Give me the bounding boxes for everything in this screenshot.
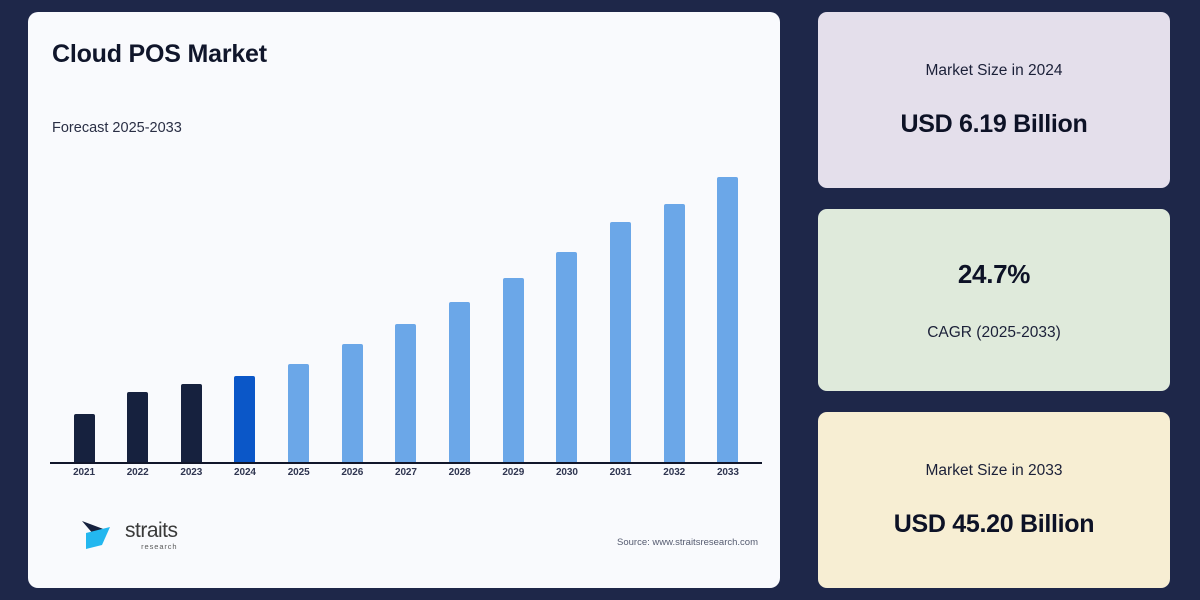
- bar-slot: [112, 154, 164, 464]
- bar-slot: [702, 154, 754, 464]
- x-axis-label-2030: 2030: [541, 467, 593, 478]
- bar-slot: [487, 154, 539, 464]
- bar-slot: [219, 154, 271, 464]
- stat-card-list: Market Size in 2024 USD 6.19 Billion 24.…: [818, 12, 1170, 588]
- x-axis-label-2029: 2029: [487, 467, 539, 478]
- bar-chart-plot: 2021202220232024202520262027202820292030…: [50, 152, 762, 464]
- stat-card-market-size-2033: Market Size in 2033 USD 45.20 Billion: [818, 412, 1170, 588]
- bar-slot: [595, 154, 647, 464]
- bar-2027: [395, 324, 416, 464]
- bar-2028: [449, 302, 470, 464]
- logo-arrow-icon: [80, 517, 118, 553]
- x-axis-label-2031: 2031: [595, 467, 647, 478]
- bar-2025: [288, 364, 309, 464]
- stat-card-value: 24.7%: [958, 259, 1030, 290]
- x-axis-label-2033: 2033: [702, 467, 754, 478]
- straits-research-logo: straits research: [80, 517, 178, 553]
- bar-slot: [648, 154, 700, 464]
- bar-slot: [434, 154, 486, 464]
- bar-slot: [165, 154, 217, 464]
- bar-slot: [326, 154, 378, 464]
- bar-2032: [664, 204, 685, 464]
- bar-2033: [717, 177, 738, 464]
- stat-card-cagr: 24.7% CAGR (2025-2033): [818, 209, 1170, 391]
- logo-main-text: straits: [125, 520, 178, 541]
- x-axis-label-2028: 2028: [434, 467, 486, 478]
- x-axis-label-2026: 2026: [326, 467, 378, 478]
- bar-2026: [342, 344, 363, 464]
- x-axis-tick-labels: 2021202220232024202520262027202820292030…: [50, 467, 762, 478]
- x-axis-label-2023: 2023: [165, 467, 217, 478]
- logo-sub-text: research: [125, 543, 178, 551]
- stat-card-label: Market Size in 2033: [926, 462, 1063, 480]
- stat-card-value: USD 6.19 Billion: [901, 110, 1088, 139]
- bar-slot: [380, 154, 432, 464]
- logo-wordmark: straits research: [125, 520, 178, 551]
- stat-card-label: CAGR (2025-2033): [927, 324, 1061, 342]
- stat-card-market-size-2024: Market Size in 2024 USD 6.19 Billion: [818, 12, 1170, 188]
- bar-slot: [58, 154, 110, 464]
- bar-2022: [127, 392, 148, 464]
- bar-2021: [74, 414, 95, 464]
- bar-slot: [273, 154, 325, 464]
- x-axis-label-2025: 2025: [273, 467, 325, 478]
- x-axis-label-2027: 2027: [380, 467, 432, 478]
- bar-group: [50, 154, 762, 464]
- x-axis-line: [50, 462, 762, 464]
- bar-2029: [503, 278, 524, 464]
- chart-panel: Cloud POS Market Forecast 2025-2033 2021…: [28, 12, 780, 588]
- x-axis-label-2021: 2021: [58, 467, 110, 478]
- bar-2024: [234, 376, 255, 464]
- x-axis-label-2024: 2024: [219, 467, 271, 478]
- infographic-page: Cloud POS Market Forecast 2025-2033 2021…: [0, 0, 1200, 600]
- chart-subtitle: Forecast 2025-2033: [52, 120, 182, 136]
- x-axis-label-2022: 2022: [112, 467, 164, 478]
- bar-2030: [556, 252, 577, 464]
- source-attribution: Source: www.straitsresearch.com: [617, 537, 758, 548]
- stat-card-label: Market Size in 2024: [926, 62, 1063, 80]
- stat-card-value: USD 45.20 Billion: [894, 510, 1095, 539]
- page-title: Cloud POS Market: [52, 40, 267, 69]
- bar-2031: [610, 222, 631, 464]
- bar-2023: [181, 384, 202, 464]
- bar-slot: [541, 154, 593, 464]
- x-axis-label-2032: 2032: [648, 467, 700, 478]
